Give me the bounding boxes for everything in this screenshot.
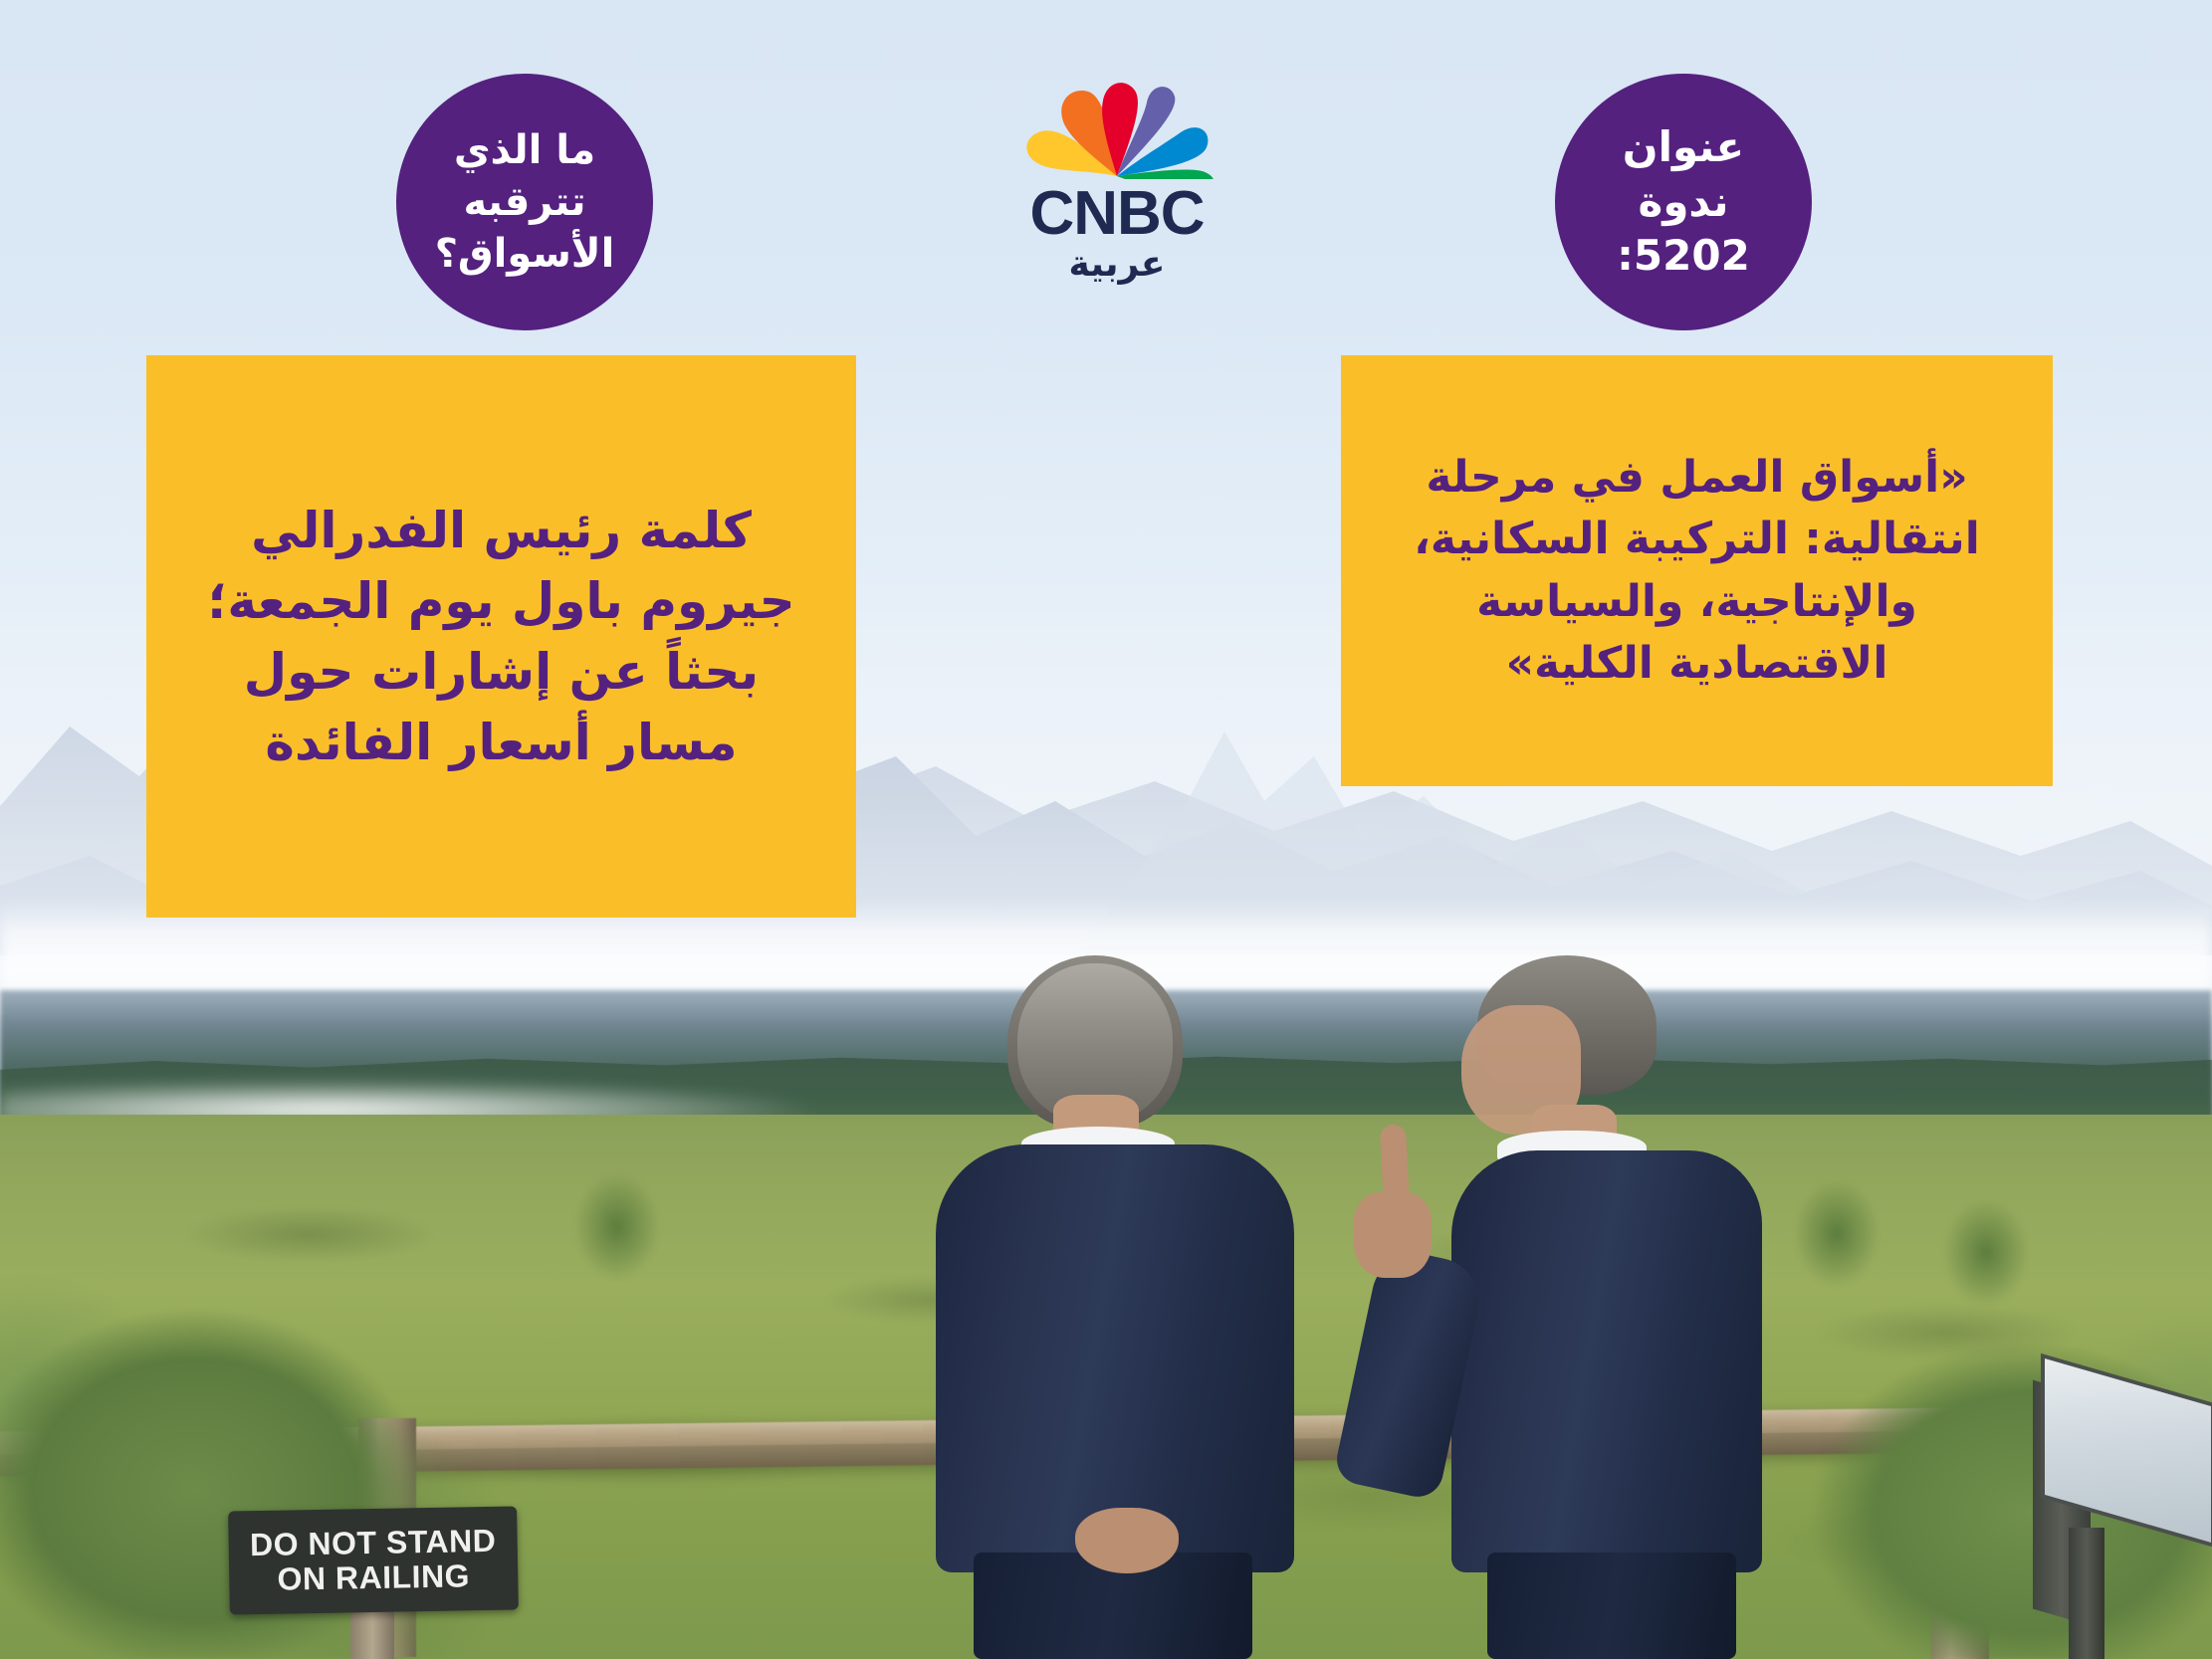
- person-right-index-finger: [1380, 1124, 1410, 1210]
- person-right-pointing: [1424, 955, 1762, 1659]
- callout-left-text: كلمة رئيس الفدرالي جيروم باول يوم الجمعة…: [146, 496, 856, 778]
- sign-line-2: ON RAILING: [277, 1558, 470, 1596]
- cnbc-arabic-wordmark: عربية: [1068, 247, 1165, 283]
- person-left-hands-behind-back: [1075, 1508, 1179, 1573]
- person-right-suit-jacket: [1451, 1150, 1762, 1572]
- cnbc-arabia-logo[interactable]: CNBC عربية: [1007, 80, 1226, 279]
- callout-left[interactable]: كلمة رئيس الفدرالي جيروم باول يوم الجمعة…: [146, 355, 856, 918]
- badge-left-question[interactable]: ما الذي تترقبه الأسواق؟: [396, 74, 653, 330]
- badge-right-seminar-title[interactable]: عنوان ندوة 2025:: [1555, 74, 1812, 330]
- badge-left-label: ما الذي تترقبه الأسواق؟: [396, 124, 653, 280]
- person-left-powell: [926, 955, 1304, 1659]
- cnbc-wordmark: CNBC: [1029, 183, 1204, 245]
- person-right-trousers: [1487, 1553, 1736, 1659]
- cnbc-peacock-logo: [1017, 80, 1217, 179]
- panel-leg: [2069, 1528, 2104, 1659]
- poster-canvas: DO NOT STAND ON RAILING: [0, 0, 2212, 1659]
- sign-line-1: DO NOT STAND: [250, 1524, 497, 1562]
- callout-right[interactable]: «أسواق العمل في مرحلة انتقالية: التركيبة…: [1341, 355, 2053, 786]
- badge-right-label: عنوان ندوة 2025:: [1555, 120, 1812, 284]
- do-not-stand-sign: DO NOT STAND ON RAILING: [228, 1506, 519, 1614]
- interpretive-panel: [2023, 1378, 2212, 1659]
- callout-right-text: «أسواق العمل في مرحلة انتقالية: التركيبة…: [1341, 447, 2053, 696]
